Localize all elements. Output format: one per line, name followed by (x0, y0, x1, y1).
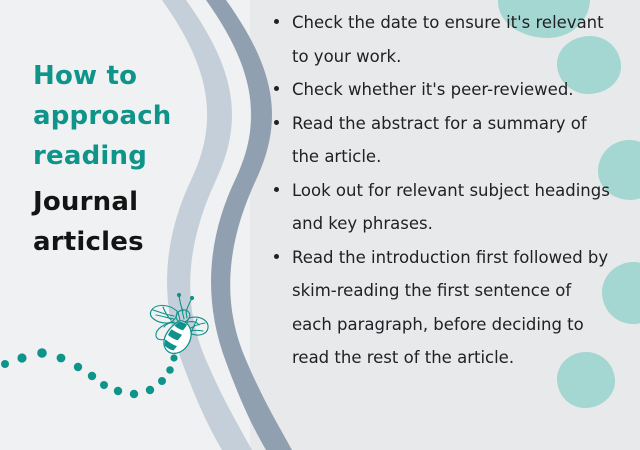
list-item-text: Read the abstract for a summary of the a… (292, 114, 587, 167)
bullet-dot-icon (274, 187, 279, 192)
list-item-text: Read the introduction first followed by … (292, 248, 608, 368)
trail-dot (74, 363, 82, 371)
heading-dark-line-2: articles (33, 222, 233, 262)
heading-teal-line-3: reading (33, 136, 233, 176)
trail-dot (57, 354, 66, 363)
trail-dot (17, 353, 26, 362)
list-item: Look out for relevant subject headings a… (272, 174, 612, 241)
heading-block: How to approach reading Journal articles (33, 56, 233, 262)
heading-teal-line-1: How to (33, 56, 233, 96)
list-item-text: Check the date to ensure it's relevant t… (292, 13, 604, 66)
bullet-dot-icon (274, 254, 279, 259)
trail-dot (130, 390, 138, 398)
heading-dark-line-1: Journal (33, 182, 233, 222)
heading-teal: How to approach reading (33, 56, 233, 176)
slide-canvas: How to approach reading Journal articles… (0, 0, 640, 450)
trail-dot (166, 366, 174, 374)
heading-dark: Journal articles (33, 182, 233, 262)
heading-teal-line-2: approach (33, 96, 233, 136)
list-item: Read the abstract for a summary of the a… (272, 107, 612, 174)
trail-dot (114, 387, 122, 395)
list-item-text: Check whether it's peer-reviewed. (292, 80, 574, 99)
trail-dot (37, 348, 47, 358)
trail-dot (100, 381, 108, 389)
list-item: Check the date to ensure it's relevant t… (272, 6, 612, 73)
bullet-dot-icon (274, 120, 279, 125)
trail-dot (146, 386, 154, 394)
tips-bullet-list: Check the date to ensure it's relevant t… (272, 6, 612, 375)
bullet-dot-icon (274, 19, 279, 24)
list-item: Read the introduction first followed by … (272, 241, 612, 375)
trail-dot (1, 360, 9, 368)
list-item-text: Look out for relevant subject headings a… (292, 181, 610, 234)
bee-icon (139, 289, 213, 361)
trail-dot (158, 377, 166, 385)
list-item: Check whether it's peer-reviewed. (272, 73, 612, 107)
trail-dot (88, 372, 96, 380)
bullet-dot-icon (274, 86, 279, 91)
